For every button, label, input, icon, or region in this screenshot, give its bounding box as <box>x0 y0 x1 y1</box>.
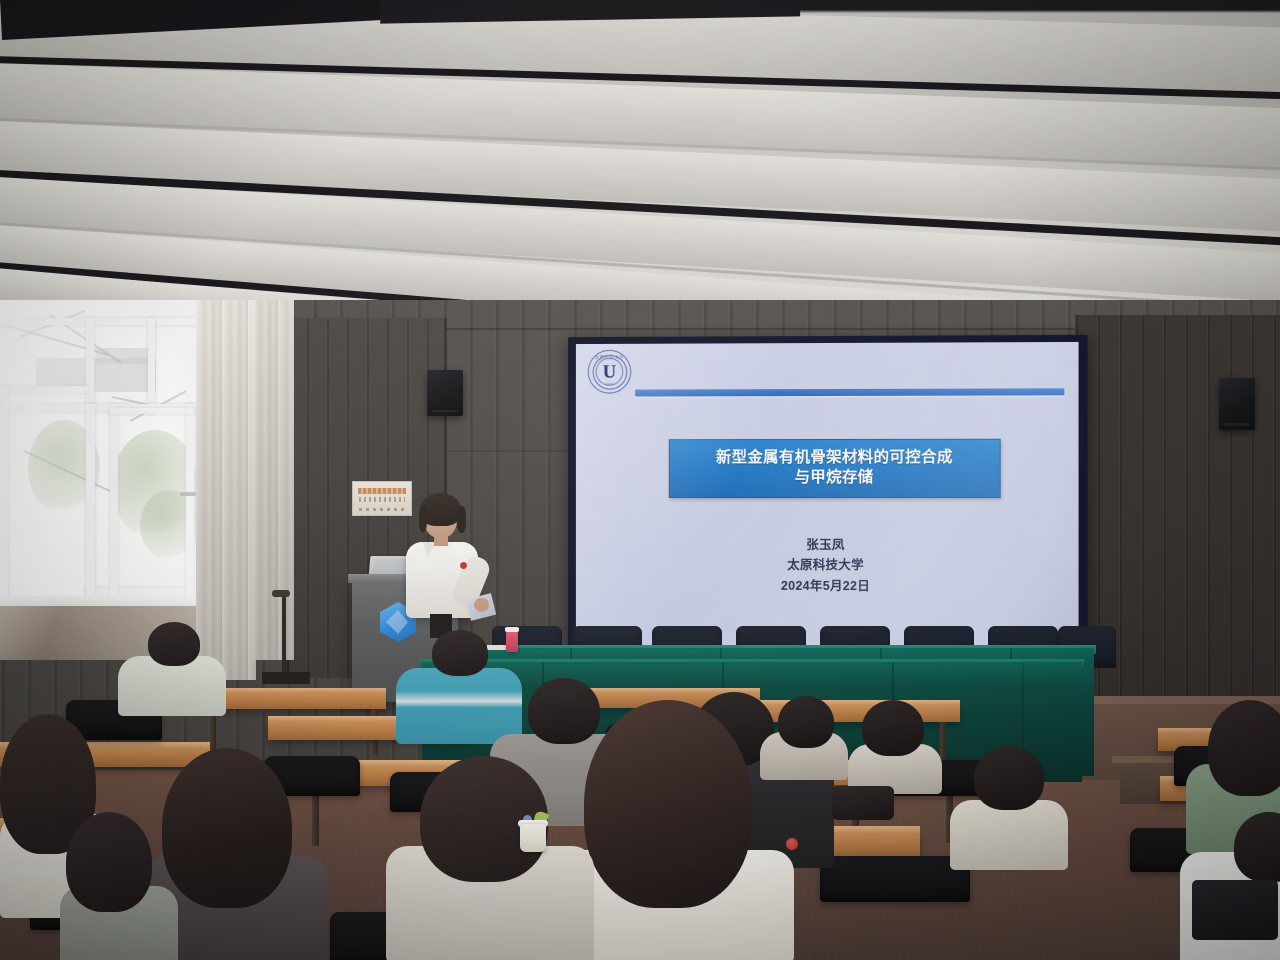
attendee-far-left-2 <box>60 812 180 960</box>
attendee-row2-right-2 <box>848 700 944 790</box>
bag <box>1192 880 1278 940</box>
attendee-cream-top <box>950 746 1070 866</box>
wall-speaker-left <box>427 370 463 416</box>
microphone-stand <box>282 596 286 676</box>
wall-speaker-right <box>1219 378 1255 430</box>
affiliation: 太原科技大学 <box>576 555 1079 576</box>
slide-surface: 太原科技大学 U 1952 新型金属有机骨架材料的可控合成 与甲烷存储 张玉凤 … <box>576 342 1079 648</box>
mic-base <box>262 672 310 684</box>
presenter <box>404 498 480 630</box>
attendee-gray-top-center <box>386 756 596 960</box>
presentation-date: 2024年5月22日 <box>576 575 1079 596</box>
bag <box>832 786 894 820</box>
wall-notice-plaque <box>352 481 412 516</box>
lecture-hall-photo: 太原科技大学 U 1952 新型金属有机骨架材料的可控合成 与甲烷存储 张玉凤 … <box>0 0 1280 960</box>
university-seal-logo: 太原科技大学 U 1952 <box>588 350 631 394</box>
slide-subtitle-block: 张玉凤 太原科技大学 2024年5月22日 <box>576 535 1079 597</box>
seal-letter: U <box>603 362 617 381</box>
seal-arc-text: 太原科技大学 <box>589 355 630 361</box>
slide-title-box: 新型金属有机骨架材料的可控合成 与甲烷存储 <box>669 439 1001 498</box>
accent-rule <box>635 388 1064 396</box>
slide-title-line-1: 新型金属有机骨架材料的可控合成 <box>676 448 994 468</box>
chair[interactable] <box>820 856 970 902</box>
ceiling <box>0 0 1280 330</box>
attendee-window-side <box>118 622 228 712</box>
milk-tea-cup <box>520 824 546 852</box>
projection-screen: 太原科技大学 U 1952 新型金属有机骨架材料的可控合成 与甲烷存储 张玉凤 … <box>568 335 1088 657</box>
microphone <box>272 590 290 597</box>
seal-base-text: 1952 <box>589 383 630 387</box>
presenter-name: 张玉凤 <box>576 535 1079 556</box>
slide-title-line-2: 与甲烷存储 <box>676 468 994 488</box>
curtain-left-2 <box>252 300 294 660</box>
